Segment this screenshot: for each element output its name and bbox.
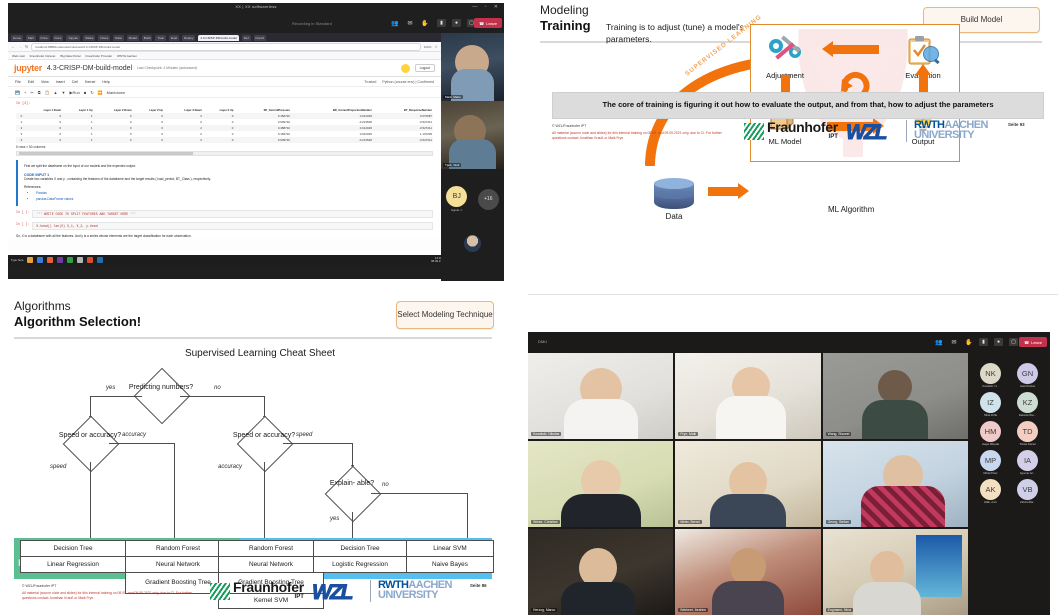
teams-window: DMU 👥 ✉ ✋ ⋯ ▮ ● ▢ ☎ Leave Kowalski, Niko… (528, 332, 1050, 615)
video-tile[interactable]: Kowalski, Nikolas (528, 353, 673, 439)
run-icon[interactable]: ▶Run (69, 90, 79, 95)
avatar-initials: NK (980, 363, 1001, 384)
filmstrip-avatar-row: BJ Ingmar, J. +16 (441, 169, 504, 223)
video-tile[interactable]: Wiese, Christian (528, 441, 673, 527)
rwth-university: UNIVERSITY (914, 131, 988, 141)
bookmark-item[interactable]: Fraunhofer Intranet (30, 54, 56, 58)
reload-icon[interactable]: ↻ (25, 44, 28, 49)
adjustment-node: Adjustment (759, 31, 811, 80)
chat-icon[interactable]: ✉ (950, 338, 958, 346)
chart-title: Supervised Learning Cheat Sheet (0, 348, 520, 359)
browser-navbar: ← → ↻ localhost:8888/notebooks/notebook/… (8, 42, 441, 52)
browser-tab[interactable]: Ref (242, 35, 251, 41)
algorithm-item: Naive Bayes (407, 557, 493, 572)
participant-name: Wiese, Christian (531, 520, 560, 524)
avatar-label: Malik, Amin (984, 501, 998, 504)
edge-label-yes: yes (106, 385, 115, 391)
roster-avatar[interactable]: NK Kowalski, N... (972, 363, 1009, 388)
avatar-initials: VB (1017, 479, 1038, 500)
cell-type-select[interactable]: Markdown (107, 90, 125, 95)
participant-name: Frye, Maik (678, 432, 698, 436)
browser-tab[interactable]: Deploy (182, 35, 195, 41)
roster-avatar[interactable]: HM Hagia Mikyala (972, 421, 1009, 446)
avatar-overflow-count: +16 (478, 189, 499, 210)
browser-tab[interactable]: Jupyter (66, 35, 80, 41)
participant-name: Mark, Marie (443, 95, 463, 99)
raise-hand-icon[interactable]: ✋ (965, 338, 973, 346)
avatar-label: Hagia Mikyala (982, 443, 999, 446)
restart-icon[interactable]: ↻ (90, 90, 93, 95)
people-icon[interactable]: 👥 (391, 19, 399, 27)
participant-name: Engmann, Nina (826, 608, 853, 612)
participant-filmstrip: Mark, Marie Tjark, Wolf BJ Ingmar, J. +1… (441, 33, 504, 281)
rwth-logo: RWTHAACHEN UNIVERSITY (378, 581, 452, 600)
algorithm-column-1: Decision Tree Linear Regression (20, 540, 126, 573)
device-icon-group[interactable]: ▮ ● ▢ (437, 19, 476, 27)
taskbar-icon[interactable] (67, 257, 73, 263)
row-index: 4 (16, 137, 23, 143)
paste-icon[interactable]: 📋 (45, 90, 50, 95)
code-input-text: Create two variables X and y , containin… (24, 177, 427, 182)
participant-name: Georg, Stefan (826, 520, 851, 524)
browser-tab[interactable]: Notes (98, 35, 110, 41)
avatar-label: Nihal Zoffa (984, 414, 997, 417)
references-label: References: (24, 185, 427, 190)
self-view-thumbnail (464, 235, 481, 252)
cell: 1 (62, 137, 93, 143)
shared-screen: Home Mail Drive Docs Jupyter Slides Note… (8, 33, 441, 265)
explainable-node-shape (325, 466, 382, 523)
video-tile[interactable]: Bekheet, Ibrahim (675, 529, 820, 615)
video-tile[interactable]: Herzog, Marco (528, 529, 673, 615)
browser-tab-active[interactable]: 4.3-CRISP-DM-build-model (198, 35, 239, 41)
jupyter-logo: jupyter (14, 63, 42, 73)
cell: 0 (203, 137, 234, 143)
edge-label-no-explainable: no (382, 482, 389, 488)
bookmark-item[interactable]: Web-mail (12, 54, 25, 58)
edge-label-accuracy-left: accuracy (122, 432, 146, 438)
browser-tab[interactable]: Slides (83, 35, 95, 41)
output-to-evaluation-arrow (919, 75, 928, 93)
left-speed-node-shape (63, 416, 120, 473)
dataframe-shape: 5 rows × 50 columns (16, 145, 433, 149)
logout-button[interactable]: Logout (415, 64, 435, 72)
teams-meeting-toolbar: DMU 👥 ✉ ✋ ⋯ ▮ ● ▢ ☎ Leave (528, 332, 1050, 353)
participant-name: Meier, Bernd (678, 520, 701, 524)
back-icon[interactable]: ← (11, 44, 15, 49)
cut-icon[interactable]: ✂ (30, 90, 33, 95)
jupyter-toolbar[interactable]: 💾 + ✂ ⧉ 📋 ▲ ▼ ▶Run ■ ↻ ⏩ Markdown (8, 87, 441, 98)
page-title: Algorithm Selection! (14, 314, 141, 330)
avatar-initials: MP (980, 450, 1001, 471)
start-label[interactable]: Type here (11, 258, 23, 262)
leave-label: Leave (1031, 340, 1042, 345)
avatar-label: Viktoria Bar... (1020, 501, 1036, 504)
fraunhofer-logo: Fraunhofer IPT (744, 121, 838, 140)
edge-label-speed-left: speed (50, 464, 66, 470)
cell: -0.213528 (291, 137, 373, 143)
avatar-label: Zakaria Mou... (1019, 414, 1036, 417)
menu-kernel[interactable]: Kernel (85, 80, 95, 84)
window-title: XX | XX softwareless (235, 4, 276, 9)
usage-notice: All material (source code and slides) fo… (22, 591, 202, 602)
teams-window: XX | XX softwareless — ▫ ✕ Recording in … (8, 3, 504, 279)
roster-grid: NK Kowalski, N... GN Gast Nicolas IZ Nih… (968, 353, 1050, 504)
roster-avatar[interactable]: AK Malik, Amin (972, 479, 1009, 504)
chat-icon[interactable]: ✉ (406, 19, 414, 27)
avatar-initials: BJ (446, 186, 467, 207)
edge-left-speed-drop (90, 462, 91, 543)
roster-avatar[interactable]: KZ Zakaria Mou... (1009, 392, 1046, 417)
cell: 2 (164, 137, 203, 143)
menu-cell[interactable]: Cell (72, 80, 78, 84)
algorithm-item: Random Forest (219, 541, 323, 557)
browser-tab[interactable]: Docs (53, 35, 64, 41)
copyright-text: © WZL/Fraunhofer IPT (22, 584, 56, 588)
cell: 0 (23, 137, 62, 143)
browser-tab[interactable]: Mail (26, 35, 36, 41)
key-message-text: The core of training is figuring it out … (594, 100, 1001, 110)
algorithm-column-4: Decision Tree Logistic Regression (313, 540, 407, 573)
browser-tab[interactable]: Eval (169, 35, 179, 41)
avatar-initials: KZ (1017, 392, 1038, 413)
right-speed-node-label: Speed or accuracy? (228, 432, 300, 440)
video-tile[interactable]: Frye, Maik (675, 353, 820, 439)
data-label: Data (640, 212, 708, 221)
logo-divider (906, 120, 907, 142)
reference-link[interactable]: pandas.DataFrame.values (36, 197, 427, 202)
slide-bottom-divider (528, 294, 1058, 295)
taskbar-icon[interactable] (77, 257, 83, 263)
participant-roster: NK Kowalski, N... GN Gast Nicolas IZ Nih… (968, 353, 1050, 615)
menu-edit[interactable]: Edit (28, 80, 34, 84)
jupyter-header: jupyter 4.3-CRISP-DM-build-model Last Ch… (8, 60, 441, 77)
slide-heading: Algorithms Algorithm Selection! (14, 300, 141, 329)
teams-gallery-window: DMU 👥 ✉ ✋ ⋯ ▮ ● ▢ ☎ Leave Kowalski, Niko… (520, 330, 1058, 615)
key-message-callout: The core of training is figuring it out … (552, 92, 1044, 119)
algorithm-item: Neural Network (126, 557, 230, 573)
browser-tab[interactable]: Model (127, 35, 139, 41)
leave-button[interactable]: ☎ Leave (474, 18, 502, 28)
roster-avatar[interactable]: IA Agomar Ari... (1009, 450, 1046, 475)
leave-button[interactable]: ☎ Leave (1019, 337, 1047, 347)
trusted-label: Trusted (364, 80, 376, 84)
jupyter-menubar[interactable]: File Edit View Insert Cell Kernel Help T… (8, 77, 441, 87)
table-row: 4 0 1 0 0 2 0 0.609732 -0.213528 -0.5272… (16, 137, 433, 143)
avatar-label: Ingmar, J. (451, 209, 462, 212)
training-slide: Modeling Training Build Model Training i… (528, 0, 1058, 322)
code-cell[interactable]: In [ ]: X.head() len(X) X_1, X_2, y.head (16, 222, 433, 230)
bookmarks-bar[interactable]: Web-mail Fraunhofer Intranet Big Data Po… (8, 52, 441, 60)
leave-label: Leave (486, 21, 497, 26)
copy-icon[interactable]: ⧉ (38, 90, 41, 95)
forward-icon[interactable]: → (18, 44, 22, 49)
slide-heading: Modeling Training (540, 4, 591, 33)
right-speed-node-shape (237, 416, 294, 473)
edge-label-speed-right: speed (296, 432, 312, 438)
checkpoint-status: Last Checkpoint: 4 Minuten (autosaved) (137, 66, 197, 70)
avatar-overflow[interactable]: +16 (478, 189, 499, 210)
browser-tab[interactable]: Home (11, 35, 23, 41)
restart-run-icon[interactable]: ⏩ (98, 90, 103, 95)
browser-tab[interactable]: Drive (39, 35, 50, 41)
zoom-level[interactable]: 100% (424, 45, 432, 49)
algorithm-item: Neural Network (219, 557, 323, 573)
stop-icon[interactable]: ■ (84, 90, 86, 95)
browser-tabstrip[interactable]: Home Mail Drive Docs Jupyter Slides Note… (8, 33, 441, 42)
gears-wrench-icon (759, 31, 811, 71)
bookmark-star-icon[interactable]: ☆ (434, 44, 438, 49)
edge-label-yes-explainable: yes (330, 516, 339, 522)
algorithm-item: Linear Regression (21, 557, 125, 572)
edge-right-speed (283, 443, 352, 444)
os-taskbar[interactable]: Type here 14:0208.09.21 (8, 255, 441, 265)
edge-explainable-no-drop (467, 493, 468, 543)
video-tile[interactable]: Meier, Bernd (675, 441, 820, 527)
participant-name: Tjark, Wolf (443, 163, 461, 167)
move-up-icon[interactable]: ▲ (54, 90, 58, 95)
copyright-text: © WZL/Fraunhofer IPT (552, 124, 586, 128)
usage-notice: All material (source code and slides) fo… (552, 131, 732, 142)
bookmark-item[interactable]: RWTH Aachen (117, 54, 137, 58)
menu-insert[interactable]: Insert (56, 80, 65, 84)
code-editor[interactable]: X.head() len(X) X_1, X_2, y.head (32, 222, 433, 230)
logo-divider (370, 580, 371, 602)
video-tile[interactable]: Wang, Shuwei (823, 353, 968, 439)
menu-view[interactable]: View (41, 80, 49, 84)
participant-name: Herzog, Marco (531, 608, 557, 612)
algorithm-item: Linear SVM (407, 541, 493, 557)
avatar-initials: TD (1017, 421, 1038, 442)
rwth-university: UNIVERSITY (378, 591, 452, 601)
data-icon (654, 178, 694, 212)
fraunhofer-logo: Fraunhofer IPT (210, 581, 304, 600)
avatar-label: Mihail Peter (983, 472, 997, 475)
raise-hand-icon[interactable]: ✋ (421, 19, 429, 27)
taskbar-icon[interactable] (87, 257, 93, 263)
header-divider (14, 337, 492, 339)
leave-icon: ☎ (1024, 340, 1029, 345)
slide-kicker: Algorithms (14, 300, 141, 314)
avatar[interactable]: BJ Ingmar, J. (446, 186, 467, 212)
algorithm-column-5: Linear SVM Naive Bayes (406, 540, 494, 573)
avatar-label: Gast Nicolas (1020, 385, 1035, 388)
camera-icon[interactable]: ▮ (437, 19, 446, 27)
avatar-initials: IA (1017, 450, 1038, 471)
roster-avatar[interactable]: TD Tobias Daniel (1009, 421, 1046, 446)
microphone-icon[interactable]: ● (994, 338, 1003, 346)
edge-root-no (180, 396, 264, 397)
edge-left-accuracy (109, 443, 174, 444)
wzl-logo: WZL (846, 122, 885, 143)
horizontal-scrollbar[interactable] (16, 151, 433, 156)
cell: 0.609732 (234, 137, 291, 143)
bookmark-item[interactable]: Fraunhofer Provider (86, 54, 113, 58)
edge-right-speed-drop (352, 443, 353, 467)
cell: 0 (94, 137, 133, 143)
avatar-initials: HM (980, 421, 1001, 442)
url-input[interactable]: localhost:8888/notebooks/notebook/4.3-CR… (31, 43, 420, 51)
notebook-body: In [4]: Layer 1 Down Layer 1 Up Layer 2 … (8, 98, 441, 239)
edge-label-accuracy-right: accuracy (218, 464, 242, 470)
window-titlebar: XX | XX softwareless — ▫ ✕ (8, 3, 504, 15)
participant-tile[interactable]: Tjark, Wolf (441, 101, 504, 169)
page-title: Training (540, 18, 591, 34)
teams-meeting-toolbar: Recording in Standard 👥 ✉ ✋ ⋯ ▮ ● ▢ ☎ Le… (8, 15, 504, 33)
roster-avatar[interactable]: VB Viktoria Bar... (1009, 479, 1046, 504)
slide-kicker: Modeling (540, 4, 591, 18)
notebook-name[interactable]: 4.3-CRISP-DM-build-model (47, 65, 132, 72)
avatar-initials: AK (980, 479, 1001, 500)
rwth-logo: RWTHAACHEN UNIVERSITY (914, 121, 988, 140)
move-down-icon[interactable]: ▼ (62, 90, 66, 95)
in-prompt: In [4]: (16, 102, 433, 106)
cell-prompt: In [ ]: (16, 222, 29, 226)
people-icon[interactable]: 👥 (935, 338, 943, 346)
video-grid: Kowalski, Nikolas Frye, Maik Wang, Shuwe… (528, 353, 968, 615)
edge-left-accuracy-drop (174, 443, 175, 543)
code-editor[interactable]: ''' WRITE CODE TO SPLIT FEATURES AND TAR… (32, 210, 433, 218)
select-modeling-technique-button[interactable]: Select Modeling Technique (396, 301, 494, 329)
edge-root-yes (90, 396, 142, 397)
browser-tab[interactable]: Data (113, 35, 123, 41)
menu-file[interactable]: File (15, 80, 21, 84)
explainable-node-label: Explain- able? (324, 480, 380, 488)
save-icon[interactable]: 💾 (15, 90, 20, 95)
page-number: Seite 86 (470, 583, 487, 588)
fraunhofer-wordmark: Fraunhofer (233, 581, 304, 594)
algorithm-item: Decision Tree (21, 541, 125, 557)
ml-algorithm-label: ML Algorithm (828, 205, 874, 214)
cell: -0.527211 (373, 137, 433, 143)
self-view[interactable] (441, 223, 504, 263)
meeting-label: DMU (538, 339, 547, 344)
kernel-label[interactable]: Python (course env) | Confirmed (382, 80, 434, 84)
fraunhofer-institute: IPT (233, 594, 304, 600)
video-tile[interactable]: Georg, Stefan (823, 441, 968, 527)
evaluation-to-adjustment-arrow (833, 45, 879, 54)
wzl-logo: WZL (312, 582, 351, 603)
avatar-label: Agomar Ari... (1020, 472, 1036, 475)
roster-avatar[interactable]: MP Mihail Peter (972, 450, 1009, 475)
participant-name: Kowalski, Nikolas (531, 432, 561, 436)
dataframe-table: Layer 1 Down Layer 1 Up Layer 2 Down Lay… (16, 108, 433, 143)
participant-name: Wang, Shuwei (826, 432, 852, 436)
taskbar-icon[interactable] (37, 257, 43, 263)
algorithm-item: Decision Tree (314, 541, 406, 557)
algorithm-selection-slide: Algorithms Algorithm Selection! Select M… (0, 292, 520, 615)
algorithm-item: Random Forest (126, 541, 230, 557)
markdown-text: First we split the dataframe on the inpu… (24, 164, 427, 169)
share-screen-icon[interactable]: ▢ (1009, 338, 1018, 346)
algorithm-item: Logistic Regression (314, 557, 406, 572)
fraunhofer-mark-icon (210, 583, 230, 600)
left-speed-node-label: Speed or accuracy? (54, 432, 126, 440)
add-icon[interactable]: + (24, 90, 26, 95)
fraunhofer-wordmark: Fraunhofer (767, 121, 838, 134)
participant-name: Bekheet, Ibrahim (678, 608, 708, 612)
taskbar-icon[interactable] (47, 257, 53, 263)
avatar-label: Tobias Daniel (1019, 443, 1035, 446)
roster-avatar[interactable]: IZ Nihal Zoffa (972, 392, 1009, 417)
fraunhofer-mark-icon (744, 123, 764, 140)
bookmark-item[interactable]: Big Data Portal (60, 54, 80, 58)
leave-icon: ☎ (479, 21, 484, 26)
adjustment-to-model-arrow (781, 75, 790, 93)
notebook-footer-text: So, X is a dataframe with all the featur… (16, 234, 433, 239)
taskbar-icon[interactable] (57, 257, 63, 263)
recording-status: Recording in Standard (292, 21, 332, 26)
cell: 0 (133, 137, 164, 143)
menu-help[interactable]: Help (102, 80, 109, 84)
edge-label-no: no (214, 385, 221, 391)
browser-tab[interactable]: Train (155, 35, 166, 41)
avatar-initials: GN (1017, 363, 1038, 384)
fraunhofer-institute: IPT (767, 134, 838, 140)
markdown-cell[interactable]: First we split the dataframe on the inpu… (16, 160, 433, 206)
microphone-icon[interactable]: ● (452, 19, 461, 27)
browser-tab[interactable]: Docs2 (254, 35, 267, 41)
root-node-label: Predicting numbers? (126, 384, 196, 392)
participant-tile[interactable]: Mark, Marie (441, 33, 504, 101)
roster-avatar[interactable]: GN Gast Nicolas (1009, 363, 1046, 388)
window-controls[interactable]: — ▫ ✕ (472, 4, 501, 10)
python-kernel-icon (401, 64, 410, 73)
taskbar-icon[interactable] (97, 257, 103, 263)
code-cell[interactable]: In [ ]: ''' WRITE CODE TO SPLIT FEATURES… (16, 210, 433, 218)
taskbar-icon[interactable] (27, 257, 33, 263)
system-clock: 14:0208.09.21 (431, 257, 441, 263)
data-to-model-arrow (708, 187, 738, 196)
teams-screenshare-window: XX | XX softwareless — ▫ ✕ Recording in … (0, 0, 510, 288)
avatar-label: Kowalski, N... (982, 385, 998, 388)
browser-tab[interactable]: Build (142, 35, 153, 41)
video-tile[interactable]: Engmann, Nina (823, 529, 968, 615)
page-number: Seite 93 (1008, 122, 1025, 127)
avatar-initials: IZ (980, 392, 1001, 413)
cell-prompt: In [ ]: (16, 210, 29, 214)
edge-right-accuracy-drop (264, 462, 265, 543)
edge-explainable-no (371, 493, 467, 494)
camera-icon[interactable]: ▮ (979, 338, 988, 346)
